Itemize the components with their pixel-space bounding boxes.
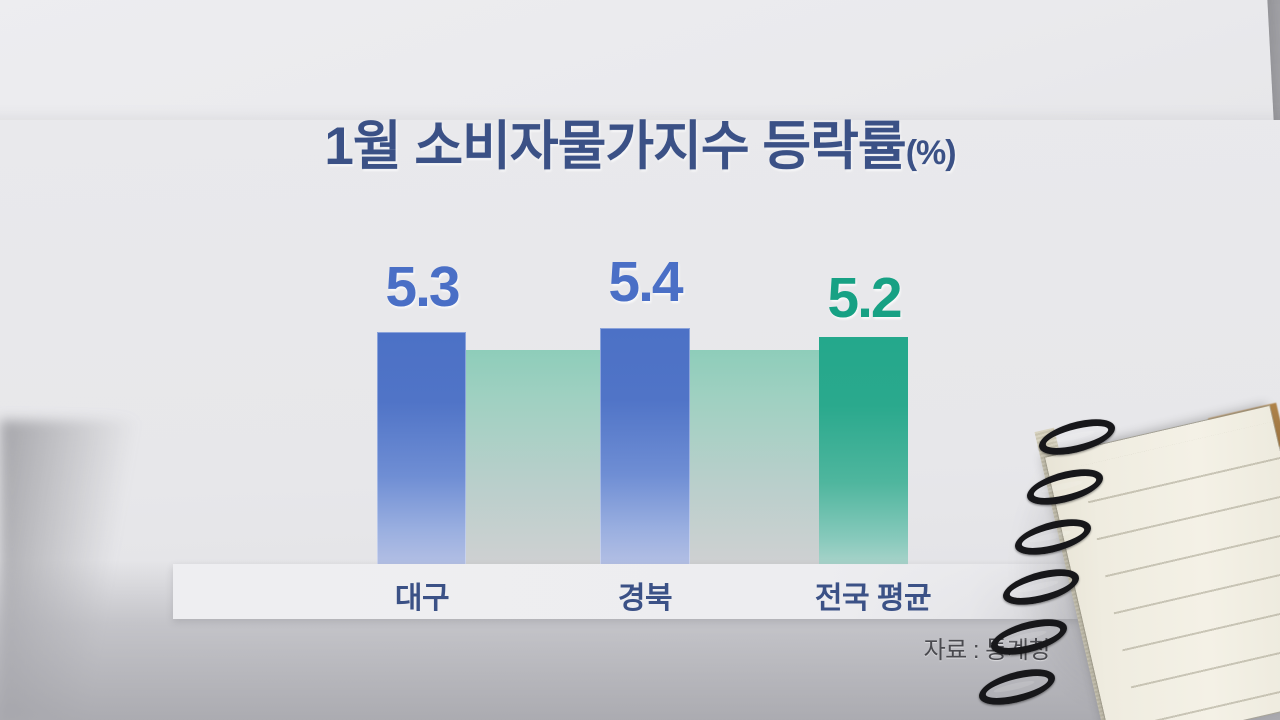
value-label-national-average: 5.2 xyxy=(808,265,920,331)
spiral-notebook xyxy=(980,400,1280,720)
bar-national-average xyxy=(819,337,908,565)
chart-title-unit: (%) xyxy=(906,134,956,172)
value-label-daegu: 5.3 xyxy=(366,254,478,320)
axis-label-gyeongbuk: 경북 xyxy=(575,573,715,617)
axis-label-daegu: 대구 xyxy=(352,573,492,617)
chart-title: 1월 소비자물가지수 등락률(%) xyxy=(0,104,1280,180)
bar-daegu xyxy=(377,332,466,565)
bar-gyeongbuk xyxy=(600,328,690,565)
screenshot-stage: 1월 소비자물가지수 등락률(%) 5.3 5.4 5.2 대구 경북 전국 평… xyxy=(0,0,1280,720)
axis-label-national-average: 전국 평균 xyxy=(783,573,963,617)
chart-title-text: 1월 소비자물가지수 등락률 xyxy=(324,117,905,176)
value-label-gyeongbuk: 5.4 xyxy=(589,249,701,315)
